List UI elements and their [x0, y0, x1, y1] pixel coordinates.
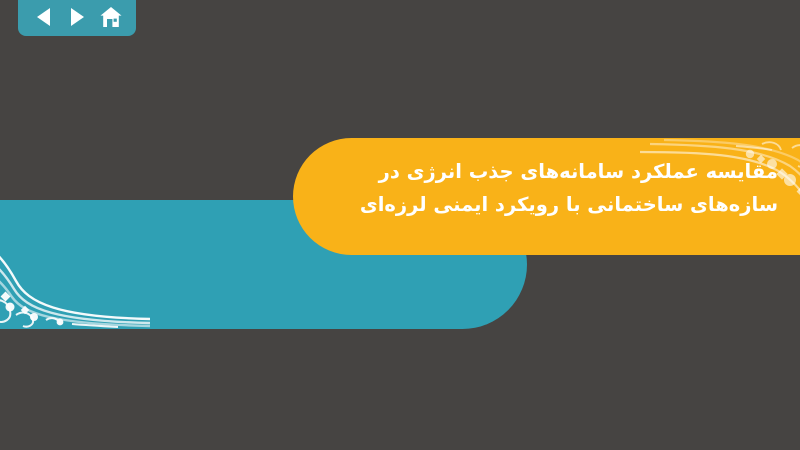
slide-title-line-2: سازه‌های ساختمانی با رویکرد ایمنی لرزه‌ا… [358, 188, 778, 221]
home-icon [100, 7, 122, 28]
title-banner: مقایسه عملکرد سامانه‌های جذب انرژی در سا… [293, 138, 800, 255]
slide-title: مقایسه عملکرد سامانه‌های جذب انرژی در سا… [358, 155, 778, 221]
slide-title-line-1: مقایسه عملکرد سامانه‌های جذب انرژی در [358, 155, 778, 188]
triangle-right-icon [69, 7, 86, 27]
next-slide-button[interactable] [64, 5, 90, 29]
slide-navigation-bar [18, 0, 136, 36]
triangle-left-icon [35, 7, 52, 27]
presentation-slide: مقایسه عملکرد سامانه‌های جذب انرژی در سا… [0, 0, 800, 450]
previous-slide-button[interactable] [30, 5, 56, 29]
home-button[interactable] [98, 5, 124, 29]
arabesque-corner-ornament-icon [0, 219, 150, 329]
